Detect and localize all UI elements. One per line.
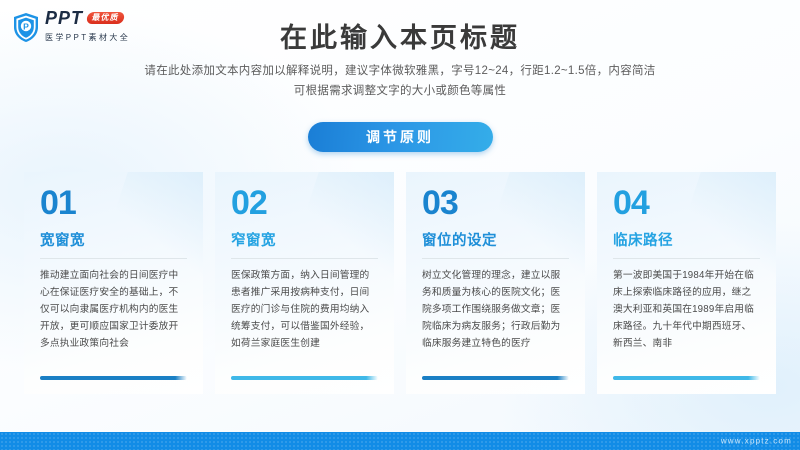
card-accent-bar [231, 376, 378, 380]
card-number: 03 [422, 186, 569, 220]
card-accent-bar [613, 376, 760, 380]
content-card-2[interactable]: 02 窄窗宽 医保政策方面，纳入日间管理的患者推广采用按病种支付，日间医疗的门诊… [215, 172, 394, 394]
section-label-pill[interactable]: 调节原则 [308, 122, 493, 152]
content-card-4[interactable]: 04 临床路径 第一波即美国于1984年开始在临床上探索临床路径的应用，继之澳大… [597, 172, 776, 394]
slide-canvas: P PPT 最优质 医学PPT素材大全 在此输入本页标题 请在此处添加文本内容加… [0, 0, 800, 450]
content-card-1[interactable]: 01 宽窗宽 推动建立面向社会的日间医疗中心在保证医疗安全的基础上，不仅可以向隶… [24, 172, 203, 394]
card-body-text: 医保政策方面，纳入日间管理的患者推广采用按病种支付，日间医疗的门诊与住院的费用均… [231, 267, 378, 352]
card-number: 04 [613, 186, 760, 220]
footer-bar: www.xpptz.com [0, 432, 800, 450]
card-divider [422, 258, 569, 259]
card-body-text: 树立文化管理的理念，建立以服务和质量为核心的医院文化；医院多项工作围绕服务做文章… [422, 267, 569, 352]
content-card-3[interactable]: 03 窗位的设定 树立文化管理的理念，建立以服务和质量为核心的医院文化；医院多项… [406, 172, 585, 394]
card-divider [613, 258, 760, 259]
footer-watermark: www.xpptz.com [721, 437, 792, 446]
card-accent-bar [40, 376, 187, 380]
card-heading: 宽窗宽 [40, 229, 187, 250]
card-heading: 窄窗宽 [231, 229, 378, 250]
card-accent-bar [422, 376, 569, 380]
card-number: 01 [40, 186, 187, 220]
card-divider [231, 258, 378, 259]
page-title: 在此输入本页标题 [0, 16, 800, 55]
card-row: 01 宽窗宽 推动建立面向社会的日间医疗中心在保证医疗安全的基础上，不仅可以向隶… [24, 172, 776, 394]
section-label-wrap: 调节原则 [0, 122, 800, 152]
subtitle-line-2: 可根据需求调整文字的大小或颜色等属性 [0, 81, 800, 101]
card-heading: 窗位的设定 [422, 229, 569, 250]
card-number: 02 [231, 186, 378, 220]
subtitle-line-1: 请在此处添加文本内容加以解释说明，建议字体微软雅黑，字号12~24，行距1.2~… [0, 61, 800, 81]
card-body-text: 第一波即美国于1984年开始在临床上探索临床路径的应用，继之澳大利亚和英国在19… [613, 267, 760, 352]
card-divider [40, 258, 187, 259]
card-heading: 临床路径 [613, 229, 760, 250]
page-subtitle: 请在此处添加文本内容加以解释说明，建议字体微软雅黑，字号12~24，行距1.2~… [0, 61, 800, 101]
card-body-text: 推动建立面向社会的日间医疗中心在保证医疗安全的基础上，不仅可以向隶属医疗机构内的… [40, 267, 187, 352]
